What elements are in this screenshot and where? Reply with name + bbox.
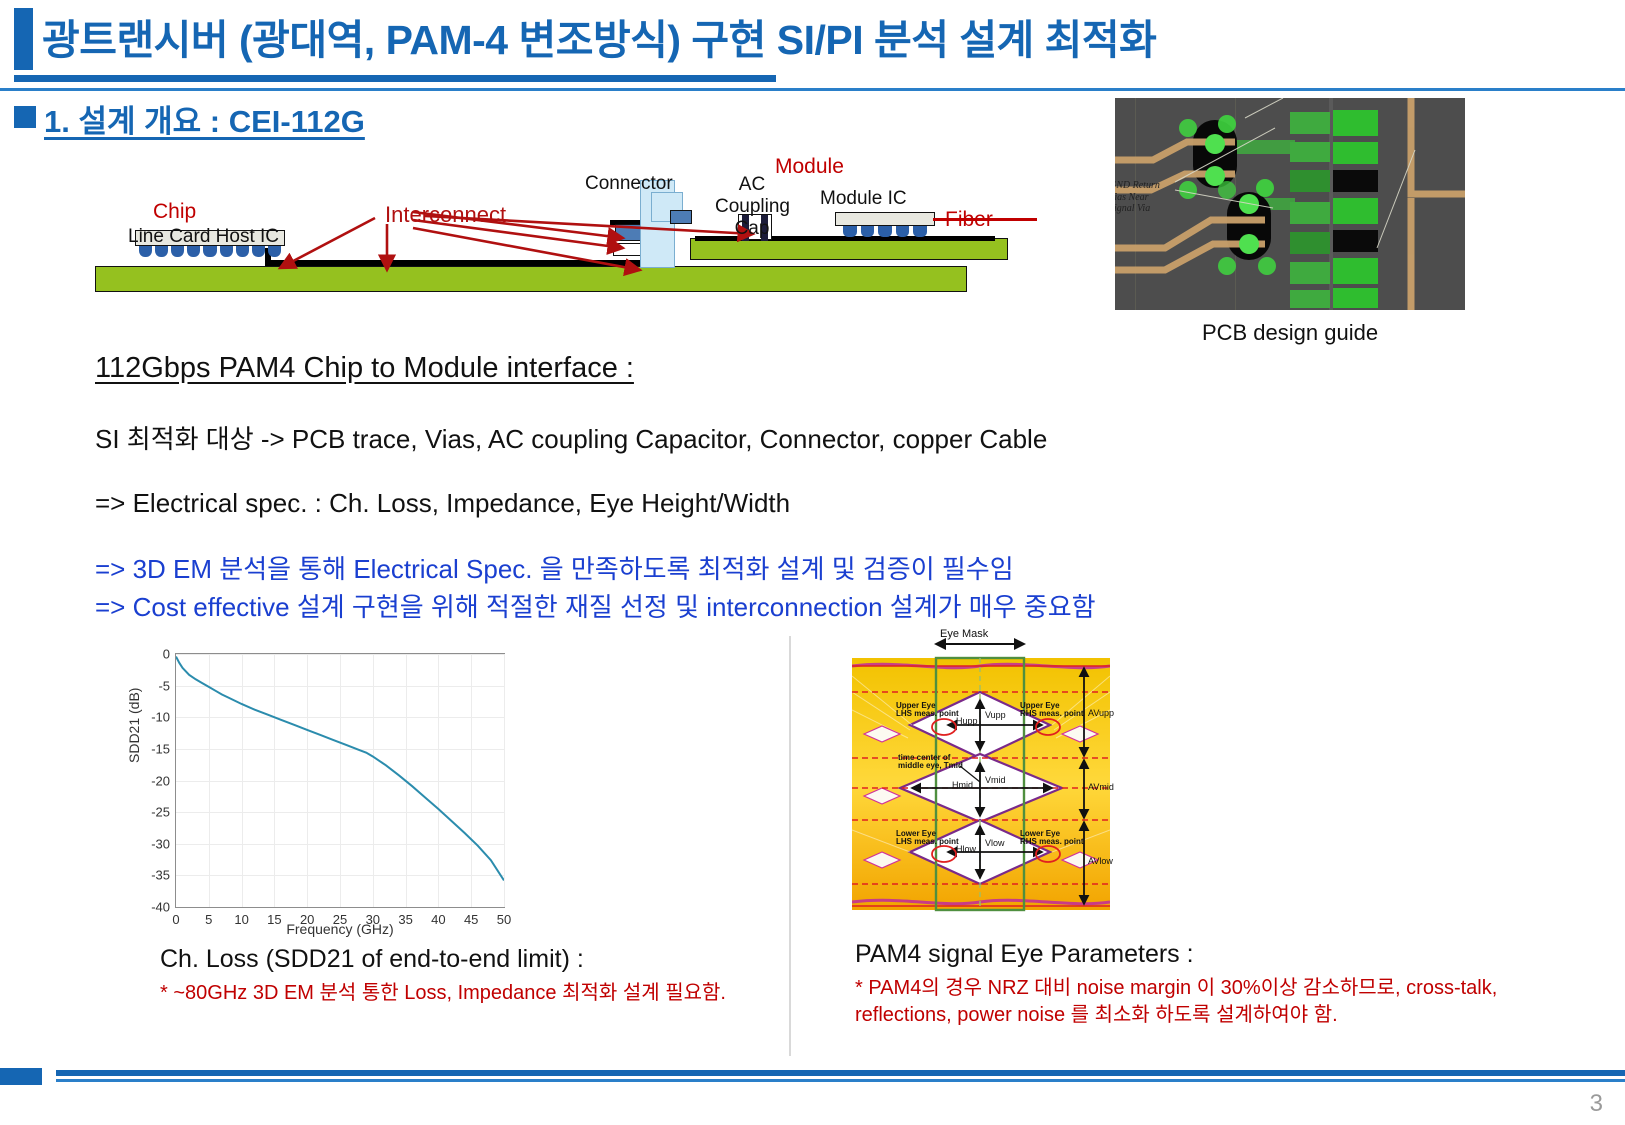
eye-label-hmid: Hmid <box>952 780 973 790</box>
eye-label-avmid: AVmid <box>1088 782 1114 792</box>
chart-y-tick-label: -35 <box>151 868 170 883</box>
body-line-cost-effective: => Cost effective 설계 구현을 위해 적절한 재질 선정 및 … <box>95 589 1435 627</box>
schematic-label-connector: Connector <box>585 173 673 195</box>
schematic-label-ac-coupling-cap: AC Coupling Cap <box>715 174 789 240</box>
eye-diagram-svg <box>852 630 1110 915</box>
chart-y-tick-label: -15 <box>151 741 170 756</box>
eye-label-avlow: AVlow <box>1088 856 1113 866</box>
chart-y-tick-label: -10 <box>151 710 170 725</box>
body-text-block: 112Gbps PAM4 Chip to Module interface : … <box>95 352 1435 626</box>
left-caption-block: Ch. Loss (SDD21 of end-to-end limit) : *… <box>160 945 800 1007</box>
eye-annotation-lower-rhs: Lower Eye RHS meas. point <box>1020 830 1084 847</box>
eye-label-hupp: Hupp <box>956 716 978 726</box>
sdd21-loss-chart: SDD21 (dB) 0-5-10-15-20-25-30-35-4005101… <box>130 645 520 945</box>
chart-series-layer <box>176 654 504 907</box>
eye-label-hlow: Hlow <box>956 844 976 854</box>
chart-y-tick-label: -30 <box>151 836 170 851</box>
schematic-label-fiber: Fiber <box>945 208 993 232</box>
body-line-si-targets: SI 최적화 대상 -> PCB trace, Vias, AC couplin… <box>95 419 1435 456</box>
title-underline-rule <box>14 75 776 82</box>
chart-y-tick-label: -5 <box>158 678 170 693</box>
eye-label-avupp: AVupp <box>1088 708 1114 718</box>
body-line-electrical-spec: => Electrical spec. : Ch. Loss, Impedanc… <box>95 488 1435 519</box>
schematic-label-host-ic: Line Card Host IC <box>128 226 279 248</box>
right-caption-block: PAM4 signal Eye Parameters : * PAM4의 경우 … <box>855 940 1555 1029</box>
chart-y-tick-label: -20 <box>151 773 170 788</box>
pcb-design-guide-caption: PCB design guide <box>1115 320 1465 346</box>
slide-header: 광트랜시버 (광대역, PAM-4 변조방식) 구현 SI/PI 분석 설계 최… <box>0 0 1625 88</box>
footer-bar-thick <box>56 1070 1625 1076</box>
left-caption-note: * ~80GHz 3D EM 분석 통한 Loss, Impedance 최적화… <box>160 980 800 1007</box>
eye-annotation-mid-center: time center of middle eye, Tmid <box>898 754 963 771</box>
body-heading: 112Gbps PAM4 Chip to Module interface : <box>95 352 1435 385</box>
page-title: 광트랜시버 (광대역, PAM-4 변조방식) 구현 SI/PI 분석 설계 최… <box>42 6 1156 66</box>
chip-to-module-schematic: Chip Line Card Host IC Interconnect Conn… <box>95 150 1010 310</box>
left-caption-title: Ch. Loss (SDD21 of end-to-end limit) : <box>160 945 800 974</box>
section-bullet-icon <box>14 106 36 128</box>
eye-annotation-upper-lhs: Upper Eye LHS meas. point <box>896 702 959 719</box>
section-heading: 1. 설계 개요 : CEI-112G <box>44 96 365 141</box>
chart-plot-area: 0-5-10-15-20-25-30-35-400510152025303540… <box>175 653 505 908</box>
chart-y-tick-label: 0 <box>163 647 170 662</box>
eye-label-vupp: Vupp <box>985 710 1006 720</box>
chart-y-tick-label: -40 <box>151 900 170 915</box>
chart-line-sdd21-end-to-end-limit <box>176 657 504 881</box>
schematic-label-interconnect: Interconnect <box>385 202 506 228</box>
eye-label-vmid: Vmid <box>985 775 1006 785</box>
footer-bar-thin <box>56 1079 1625 1082</box>
pam4-eye-diagram: Eye Mask <box>852 630 1110 915</box>
page-number: 3 <box>1590 1090 1603 1118</box>
eye-mask-label: Eye Mask <box>940 628 988 640</box>
chart-y-axis-label: SDD21 (dB) <box>126 688 142 763</box>
body-line-3d-em: => 3D EM 분석을 통해 Electrical Spec. 을 만족하도록… <box>95 551 1435 589</box>
footer-accent-square <box>0 1068 42 1085</box>
chart-gridline-vertical <box>504 654 505 907</box>
right-caption-title: PAM4 signal Eye Parameters : <box>855 940 1555 969</box>
schematic-label-module: Module <box>775 155 844 179</box>
pcb-layout-svg <box>1115 98 1465 310</box>
header-divider <box>0 88 1625 91</box>
pcb-annotation-gnd-return: GND Return Vias Near Signal Via <box>1115 180 1160 215</box>
schematic-label-module-ic: Module IC <box>820 188 907 210</box>
schematic-label-chip: Chip <box>153 200 196 224</box>
right-caption-note: * PAM4의 경우 NRZ 대비 noise margin 이 30%이상 감… <box>855 975 1555 1029</box>
eye-label-vlow: Vlow <box>985 838 1005 848</box>
eye-annotation-lower-lhs: Lower Eye LHS meas. point <box>896 830 959 847</box>
title-accent-bar <box>14 8 33 70</box>
eye-annotation-upper-rhs: Upper Eye RHS meas. point <box>1020 702 1084 719</box>
pcb-design-guide-image: Oval Via Anti-Pads Cutout Under CFP2 Con… <box>1115 98 1465 310</box>
chart-x-axis-label: Frequency (GHz) <box>175 921 505 937</box>
chart-y-tick-label: -25 <box>151 805 170 820</box>
